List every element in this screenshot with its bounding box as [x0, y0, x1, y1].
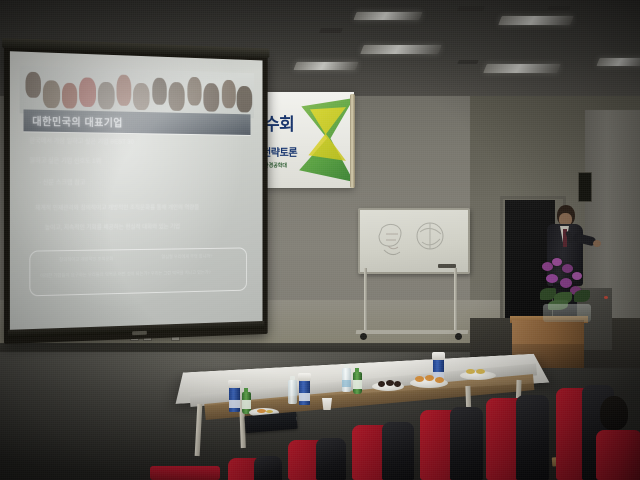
ceiling-light-fixture — [360, 45, 442, 54]
snack-item — [476, 369, 485, 374]
attendee-head — [600, 396, 628, 430]
snack-item — [435, 377, 444, 383]
seat-backrest — [596, 430, 640, 480]
presenter-hand — [593, 240, 601, 247]
flower-pot-wrap — [543, 304, 591, 322]
seat-headrest-trim — [316, 438, 346, 480]
power-led-icon — [604, 296, 608, 299]
snack-item — [415, 376, 424, 382]
seat-headrest-trim — [516, 395, 549, 480]
snack-item — [394, 381, 401, 387]
snack-item — [257, 409, 266, 413]
bottle-cap — [298, 373, 311, 381]
water-bottle — [288, 380, 297, 404]
seat-headrest-trim — [450, 407, 483, 480]
ceiling-light-fixture — [293, 62, 358, 70]
ceiling-vent — [547, 6, 571, 10]
yogurt-drink-bottle — [229, 386, 240, 412]
ceiling-light-fixture — [498, 16, 574, 25]
snack-item — [378, 381, 385, 387]
seat-cushion — [150, 466, 220, 480]
orchid-leaf — [574, 290, 590, 302]
snack-item — [386, 380, 394, 386]
whiteboard-leg — [364, 268, 367, 332]
whiteboard-caster — [360, 333, 367, 340]
screen-pull-knob[interactable] — [132, 331, 147, 335]
seat-headrest-trim — [254, 456, 282, 480]
banner-title-line1: 수회 — [264, 110, 294, 135]
orchid-petal — [552, 258, 562, 266]
event-banner: 수회 전략토론 한경공학대 — [258, 92, 354, 188]
whiteboard-caster — [455, 333, 462, 340]
ceiling-light-fixture — [483, 64, 561, 73]
ceiling-vent — [319, 28, 343, 33]
banner-pole — [350, 94, 355, 188]
whiteboard — [350, 200, 474, 345]
ceiling-vent — [457, 60, 479, 64]
bottle-label — [299, 393, 310, 401]
bottle-label — [342, 380, 351, 387]
bottle-cap — [432, 352, 445, 360]
wall-speaker-icon — [578, 172, 592, 202]
bottle-label — [229, 400, 240, 408]
projection-screen: 대한민국의 대표기업 한국에서 가장 일하고 싶은 기업 BEST 30 일하고… — [4, 44, 268, 344]
whiteboard-sketch-icon — [360, 210, 468, 272]
seat-headrest-trim — [382, 422, 414, 480]
orchid-petal — [572, 272, 582, 280]
paper-cup — [322, 398, 332, 410]
ceiling-light-fixture — [353, 12, 422, 20]
orchid-petal — [562, 264, 573, 273]
ceiling-light-fixture — [596, 58, 640, 66]
bottle-label — [353, 380, 362, 389]
screen-projection-glow — [10, 51, 263, 337]
orchid-petal — [560, 278, 572, 288]
lecture-hall-photo: 수회 전략토론 한경공학대 — [0, 0, 640, 480]
snack-item — [425, 375, 434, 381]
snack-item — [466, 369, 475, 374]
bottle-label — [242, 400, 251, 409]
orchid-petal — [546, 274, 558, 283]
ceiling-vent — [457, 6, 485, 11]
screen-surface: 대한민국의 대표기업 한국에서 가장 일하고 싶은 기업 BEST 30 일하고… — [10, 51, 263, 337]
snack-item — [266, 410, 273, 413]
yogurt-drink-bottle — [299, 379, 310, 405]
whiteboard-leg — [454, 268, 457, 332]
whiteboard-base — [356, 330, 469, 334]
bottle-cap — [228, 380, 241, 388]
